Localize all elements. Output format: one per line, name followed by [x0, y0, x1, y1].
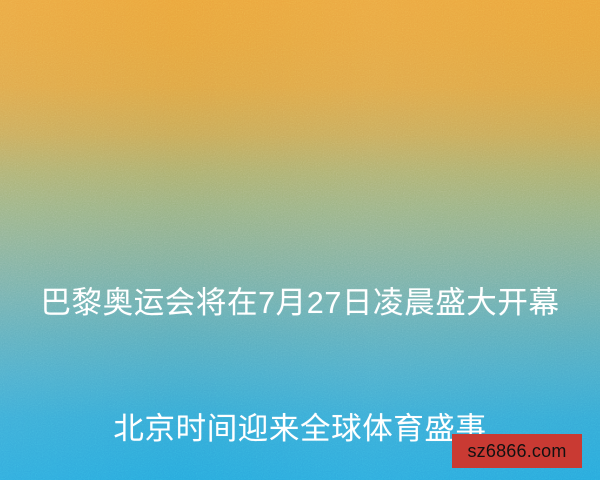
- watermark-badge: sz6866.com: [452, 434, 582, 468]
- headline-line-1: 巴黎奥运会将在7月27日凌晨盛大开幕: [0, 282, 600, 324]
- news-banner-image: 巴黎奥运会将在7月27日凌晨盛大开幕 北京时间迎来全球体育盛事 sz6866.c…: [0, 0, 600, 480]
- watermark-url-text: sz6866.com: [467, 442, 566, 460]
